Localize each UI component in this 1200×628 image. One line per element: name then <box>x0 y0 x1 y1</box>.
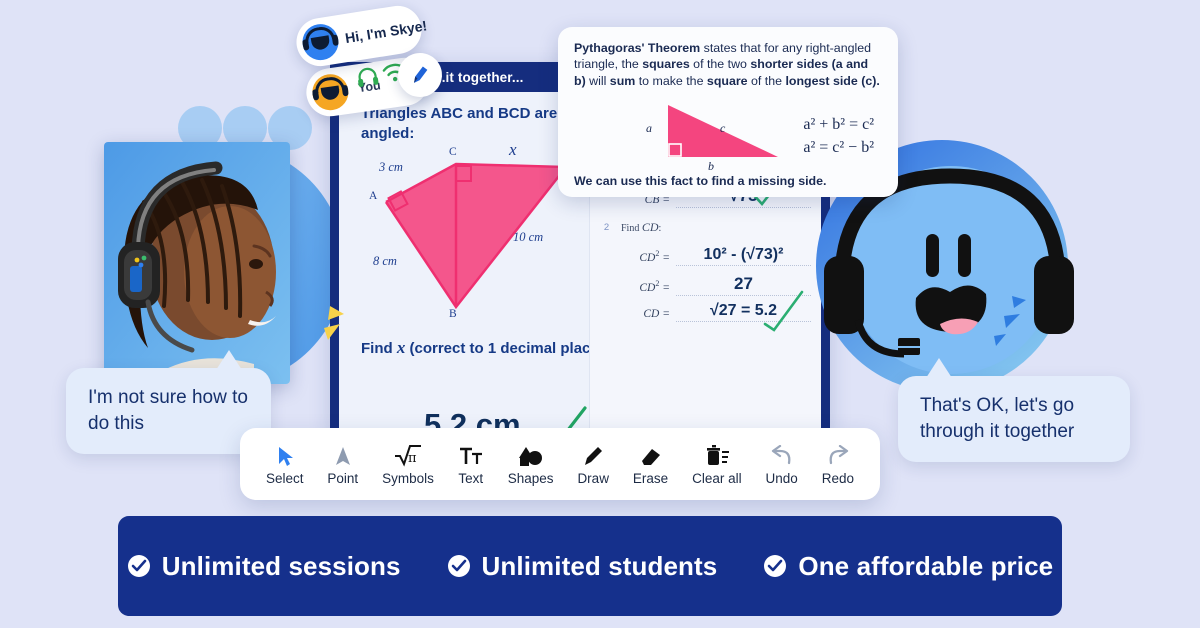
trash-icon <box>704 443 730 467</box>
eraser-icon <box>639 443 663 467</box>
bubble-tail <box>216 350 242 370</box>
tutor-speech-bubble: That's OK, let's go through it together <box>898 376 1130 462</box>
tool-shapes[interactable]: Shapes <box>508 443 554 486</box>
side-label-8cm: 8 cm <box>373 254 397 269</box>
working-line: CD = √27 = 5.2 <box>612 302 811 322</box>
equation-lhs: CD2 = <box>612 279 676 296</box>
square-root-pi-icon: π <box>393 443 423 467</box>
formula-line-1: a² + b² = c² <box>803 113 874 136</box>
question-post: (correct to 1 decimal place): <box>405 340 608 357</box>
tool-label: Redo <box>822 471 854 486</box>
vertex-label-B: B <box>449 308 457 320</box>
banner-label: Unlimited sessions <box>162 551 401 582</box>
working-step-2-header: 2 Find CD: <box>600 220 661 235</box>
pythagoras-card-text: Pythagoras' Theorem states that for any … <box>574 40 882 89</box>
equation-lhs: CD2 = <box>612 249 676 266</box>
tool-label: Clear all <box>692 471 742 486</box>
student-speech-text: I'm not sure how to do this <box>88 387 248 434</box>
pyth-label-b: b <box>708 159 714 174</box>
step-label: Find CD: <box>621 220 661 235</box>
svg-text:π: π <box>408 451 417 466</box>
tool-label: Select <box>266 471 304 486</box>
pencil-icon <box>408 63 433 88</box>
tool-symbols[interactable]: π Symbols <box>382 443 434 486</box>
equation-rhs: √27 = 5.2 <box>676 302 811 322</box>
pencil-icon <box>582 443 604 467</box>
pythagoras-formulas: a² + b² = c² a² = c² − b² <box>803 113 874 159</box>
skye-chip-label: Hi, I'm Skye! <box>344 17 428 46</box>
side-label-10cm: 10 cm <box>513 230 543 245</box>
banner-item: Unlimited sessions <box>127 551 401 582</box>
tool-label: Erase <box>633 471 668 486</box>
banner-label: Unlimited students <box>482 551 718 582</box>
tool-label: Draw <box>577 471 609 486</box>
feature-banner: Unlimited sessions Unlimited students On… <box>118 516 1062 616</box>
side-label-3cm: 3 cm <box>379 160 403 175</box>
undo-arrow-icon <box>770 443 794 467</box>
promo-canvas: ...it together... Triangles ABC and BCD … <box>0 0 1200 628</box>
banner-item: Unlimited students <box>447 551 718 582</box>
tool-draw[interactable]: Draw <box>577 443 609 486</box>
check-circle-icon <box>127 554 151 578</box>
tool-undo[interactable]: Undo <box>766 443 798 486</box>
working-line: CD2 = 10² - (√73)² <box>612 246 811 266</box>
tool-redo[interactable]: Redo <box>822 443 854 486</box>
tool-label: Point <box>327 471 358 486</box>
check-circle-icon <box>763 554 787 578</box>
student-photo <box>104 142 290 384</box>
yellow-sparkle-decoration <box>310 300 370 360</box>
tool-text[interactable]: Text <box>458 443 484 486</box>
equation-rhs: 10² - (√73)² <box>676 246 811 266</box>
text-format-icon <box>458 443 484 467</box>
bubble-tail <box>926 358 952 378</box>
tool-label: Symbols <box>382 471 434 486</box>
pyth-label-c: c <box>720 121 725 136</box>
banner-label: One affordable price <box>798 551 1053 582</box>
pyth-label-a: a <box>646 121 652 136</box>
equation-rhs: 27 <box>676 274 811 296</box>
tool-label: Shapes <box>508 471 554 486</box>
cursor-arrow-icon <box>275 443 295 467</box>
side-label-x: x <box>509 140 517 160</box>
vertex-label-C: C <box>449 146 457 158</box>
tutor-speech-text: That's OK, let's go through it together <box>920 395 1074 442</box>
pointer-triangle-icon <box>333 443 353 467</box>
shapes-icon <box>518 443 544 467</box>
tool-label: Text <box>458 471 483 486</box>
tool-select[interactable]: Select <box>266 443 304 486</box>
working-line: CD2 = 27 <box>612 274 811 296</box>
student-photo-illustration <box>104 142 290 384</box>
check-circle-icon <box>447 554 471 578</box>
tool-label: Undo <box>766 471 798 486</box>
skye-avatar <box>300 22 341 63</box>
tool-erase[interactable]: Erase <box>633 443 668 486</box>
step-number: 2 <box>600 222 613 233</box>
whiteboard-toolbar: Select Point π Symbols <box>240 428 880 500</box>
vertex-label-A: A <box>369 190 377 202</box>
pythagoras-card-footer: We can use this fact to find a missing s… <box>574 174 826 188</box>
banner-item: One affordable price <box>763 551 1053 582</box>
tool-clear-all[interactable]: Clear all <box>692 443 742 486</box>
student-avatar <box>310 72 351 113</box>
redo-arrow-icon <box>826 443 850 467</box>
tool-point[interactable]: Point <box>327 443 358 486</box>
formula-line-2: a² = c² − b² <box>803 136 874 159</box>
headphones-icon <box>355 65 380 88</box>
pythagoras-theorem-card: Pythagoras' Theorem states that for any … <box>558 27 898 197</box>
equation-lhs: CD = <box>612 305 676 322</box>
pythagoras-triangle-icon <box>658 99 798 161</box>
